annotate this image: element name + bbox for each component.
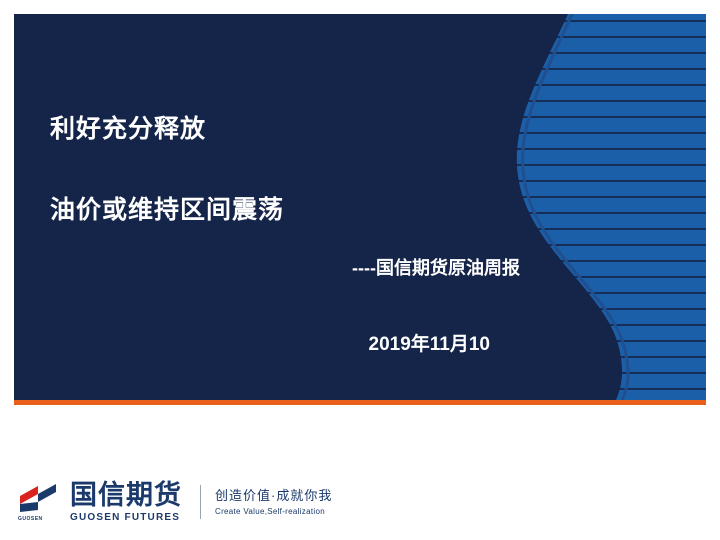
report-subtitle: ----国信期货原油周报 [50, 254, 520, 280]
slogan-wrap: 创造价值·成就你我 Create Value,Self-realization [215, 488, 332, 517]
guosen-futures-logo-icon: GUOSEN [18, 482, 64, 522]
company-name-cn: 国信期货 [70, 482, 182, 509]
report-date: 2019年11月10 [50, 329, 490, 356]
logo-arrow-icon [18, 482, 64, 514]
title-line-1: 利好充分释放 [50, 114, 520, 145]
footer-branding: GUOSEN 国信期货 GUOSEN FUTURES 创造价值·成就你我 Cre… [18, 478, 332, 526]
title-block: 利好充分释放 油价或维持区间震荡 [50, 114, 520, 227]
footer-divider [200, 485, 201, 519]
accent-rule [14, 400, 706, 405]
logo-mark-sub-label: GUOSEN [18, 516, 43, 522]
slogan-en: Create Value,Self-realization [215, 507, 332, 516]
title-banner: 利好充分释放 油价或维持区间震荡 ----国信期货原油周报 2019年11月10 [14, 14, 706, 400]
logo-text-wrap: 国信期货 GUOSEN FUTURES [70, 482, 182, 523]
title-line-2: 油价或维持区间震荡 [50, 195, 520, 226]
slogan-cn: 创造价值·成就你我 [215, 488, 332, 504]
company-name-en: GUOSEN FUTURES [70, 512, 182, 523]
presentation-slide: 利好充分释放 油价或维持区间震荡 ----国信期货原油周报 2019年11月10… [0, 0, 720, 540]
